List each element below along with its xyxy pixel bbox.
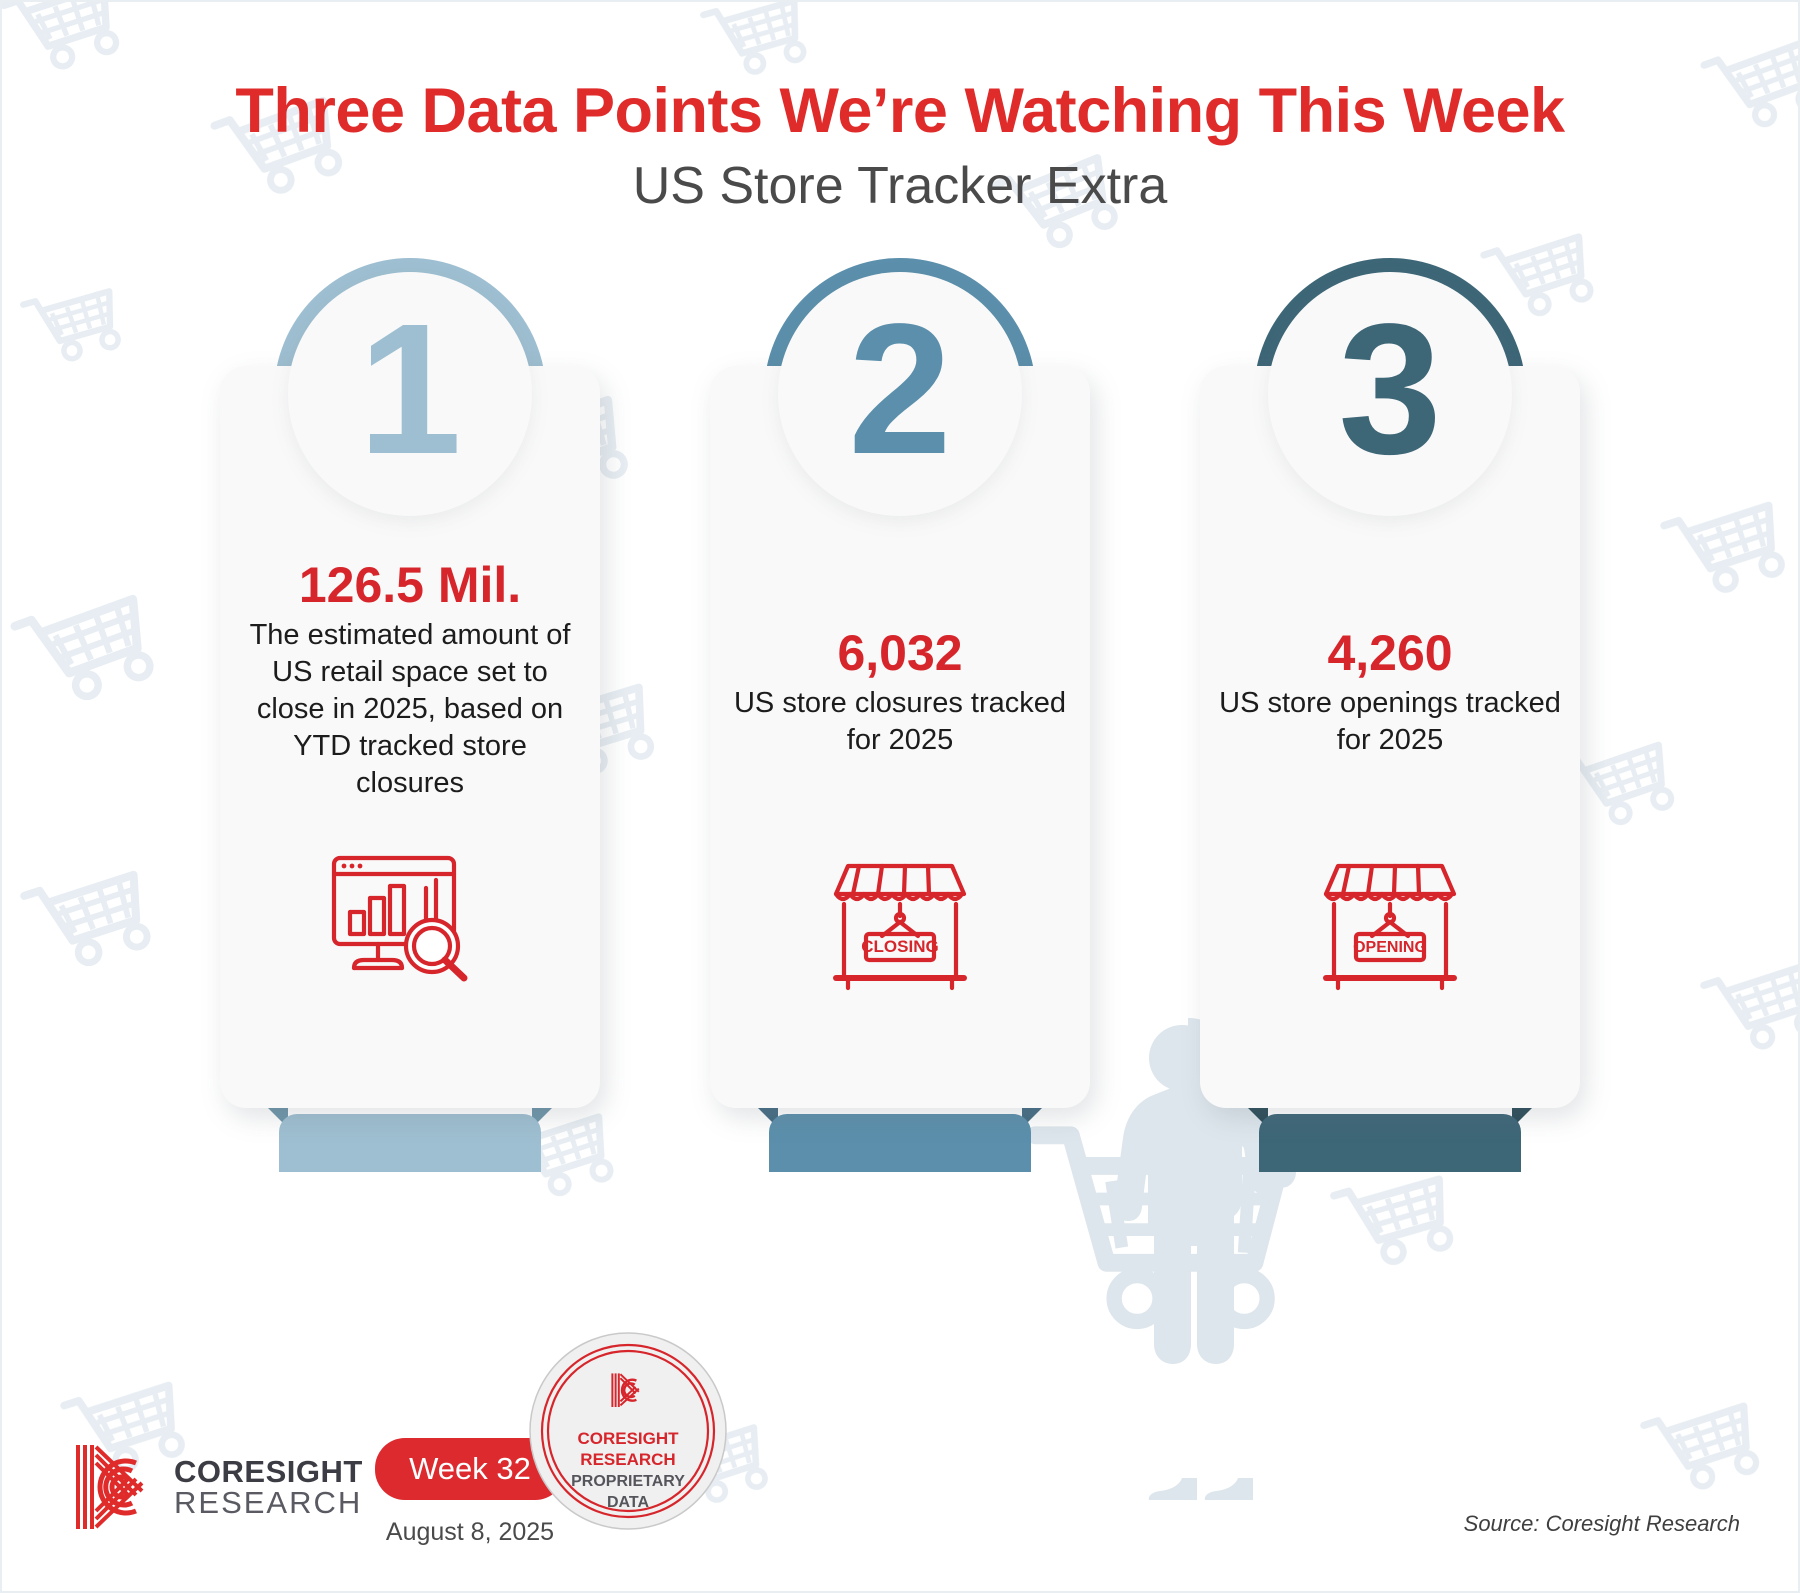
store-opening-icon: OPENING: [1316, 850, 1464, 998]
card-1-badge-number: 1: [358, 297, 461, 483]
card-2-ribbon: [769, 1114, 1031, 1172]
page-header: Three Data Points We’re Watching This We…: [0, 78, 1800, 215]
card-3-ribbon: [1259, 1114, 1521, 1172]
card-3-badge-circle: 3: [1268, 272, 1512, 516]
store-closing-sign-text: CLOSING: [861, 937, 938, 956]
logo-line-research: RESEARCH: [174, 1487, 363, 1518]
seal-line-4: DATA: [607, 1494, 650, 1511]
card-2-stat-number: 6,032: [726, 626, 1074, 681]
coresight-logo-text: CORESIGHT RESEARCH: [174, 1456, 363, 1518]
seal-line-3: PROPRIETARY: [571, 1473, 685, 1490]
card-1-ribbon: [279, 1114, 541, 1172]
proprietary-data-seal: CORESIGHT RESEARCH PROPRIETARY DATA: [528, 1331, 728, 1531]
page-title: Three Data Points We’re Watching This We…: [0, 78, 1800, 144]
stat-card-3: 3 4,260 US store openings tracked for 20…: [1200, 258, 1580, 1148]
stat-card-2: 2 6,032 US store closures tracked for 20…: [710, 258, 1090, 1148]
seal-line-2: RESEARCH: [580, 1450, 675, 1469]
store-opening-sign-text: OPENING: [1353, 939, 1427, 956]
card-2-badge-circle: 2: [778, 272, 1022, 516]
card-1-stat-description: The estimated amount of US retail space …: [236, 617, 584, 803]
analytics-dashboard-icon: [326, 850, 494, 990]
page-footer: CORESIGHT RESEARCH Week 32 August 8, 202…: [0, 1333, 1800, 1593]
stat-card-1: 1 126.5 Mil. The estimated amount of US …: [220, 258, 600, 1148]
coresight-logo: CORESIGHT RESEARCH: [72, 1439, 363, 1535]
card-1-stat-number: 126.5 Mil.: [236, 558, 584, 613]
coresight-logo-icon: [72, 1439, 156, 1535]
seal-line-1: CORESIGHT: [577, 1429, 679, 1448]
card-3-badge-number: 3: [1338, 297, 1441, 483]
card-3-stat-description: US store openings tracked for 2025: [1216, 685, 1564, 759]
card-1-content: 126.5 Mil. The estimated amount of US re…: [220, 558, 600, 803]
stat-cards-row: 1 126.5 Mil. The estimated amount of US …: [0, 258, 1800, 1148]
card-2-stat-description: US store closures tracked for 2025: [726, 685, 1074, 759]
card-2-badge-number: 2: [848, 297, 951, 483]
card-1-badge-circle: 1: [288, 272, 532, 516]
logo-line-coresight: CORESIGHT: [174, 1456, 363, 1487]
page-subtitle: US Store Tracker Extra: [0, 158, 1800, 215]
source-note: Source: Coresight Research: [1464, 1511, 1740, 1537]
card-3-stat-number: 4,260: [1216, 626, 1564, 681]
card-3-content: 4,260 US store openings tracked for 2025: [1200, 626, 1580, 759]
store-closing-icon: CLOSING: [826, 850, 974, 998]
card-2-content: 6,032 US store closures tracked for 2025: [710, 626, 1090, 759]
